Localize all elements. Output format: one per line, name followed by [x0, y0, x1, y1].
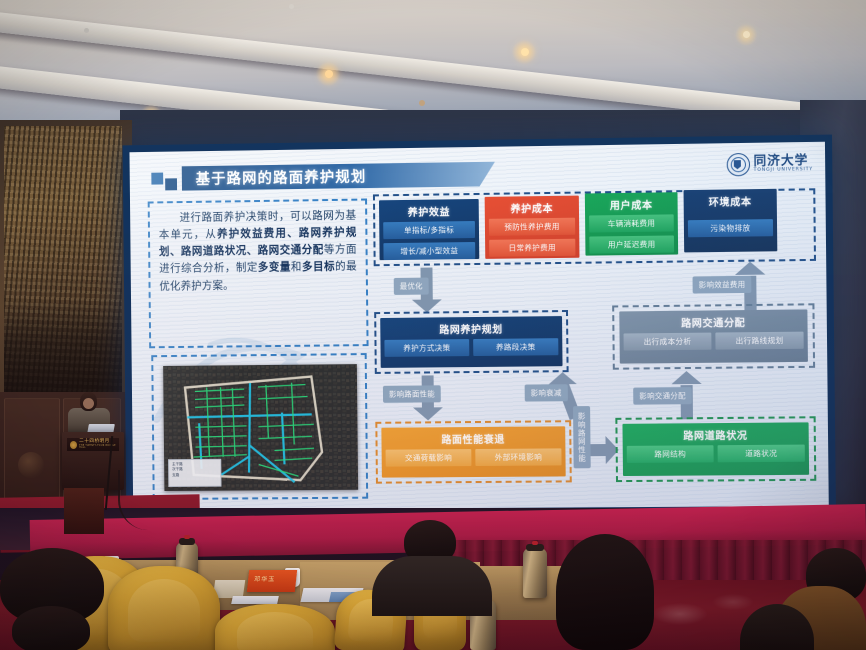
audience-chair: [108, 566, 220, 650]
thermos-cap: [526, 544, 544, 551]
chip-row: 预防性养护费用: [489, 218, 575, 236]
chip: 用户延迟费用: [589, 235, 674, 253]
body-text: 和: [291, 262, 302, 274]
thermos-cap: [179, 538, 195, 545]
ceiling-vent: [289, 4, 294, 9]
card-network-maintenance-plan: 路网养护规划 养护方式决策 养路段决策: [380, 316, 562, 368]
card-user-cost: 用户成本 车辆消耗费用 用户延迟费用: [585, 192, 678, 255]
chip-row: 养护方式决策 养路段决策: [384, 338, 558, 357]
title-square-icon: [165, 178, 177, 190]
emphasis-text: 多目标: [302, 261, 335, 273]
conference-hall-photo: 基于路网的路面养护规划 同济大学 TONGJI UNIVERSITY 进行路面养…: [0, 0, 866, 650]
door-ornament: [18, 452, 44, 478]
audience-person-head: [12, 606, 90, 650]
card-title: 养护效益: [408, 203, 450, 219]
chip: 出行成本分析: [624, 333, 712, 351]
chip: 增长/减小型效益: [383, 242, 475, 260]
podium: 二十四桥明月 THE TWENTY-FOUR BRIDGE HALL: [62, 432, 124, 490]
card-title: 环境成本: [709, 193, 752, 209]
chip: 道路状况: [718, 445, 805, 463]
podium-base: [64, 488, 104, 534]
chip-row: 增长/减小型效益: [383, 242, 475, 260]
logo-text-en: TONGJI UNIVERSITY: [754, 169, 813, 174]
wall-mural-shadow: [4, 300, 122, 400]
tongji-seal-icon: [726, 153, 750, 176]
chip: 车辆消耗费用: [589, 214, 674, 232]
emphasis-text: 多变量: [258, 262, 291, 274]
arrow-label-optimize: 最优化: [394, 278, 429, 295]
chip: 养路段决策: [473, 338, 558, 356]
map-legend: 主干路 次干路 支路: [168, 459, 221, 487]
name-card-text: 邓华玉: [254, 574, 276, 583]
chip: 预防性养护费用: [489, 218, 575, 236]
presentation-slide: 基于路网的路面养护规划 同济大学 TONGJI UNIVERSITY 进行路面养…: [129, 142, 828, 510]
slide-body-text: 进行路面养护决策时，可以路网为基本单元，从养护效益费用、路网养护规划、路网道路状…: [148, 198, 369, 348]
chip-row: 交通荷载影响 外部环境影响: [386, 448, 562, 466]
card-environment-cost: 环境成本 污染物排放: [684, 189, 778, 253]
chip: 路网结构: [627, 445, 714, 463]
chip: 出行路线规划: [715, 332, 803, 350]
card-title: 养护成本: [510, 200, 553, 216]
projection-screen: 基于路网的路面养护规划 同济大学 TONGJI UNIVERSITY 进行路面养…: [123, 135, 836, 517]
chip-row: 单指标/多指标: [383, 221, 475, 239]
chip: 日常养护费用: [489, 239, 575, 257]
chip-row: 路网结构 道路状况: [627, 445, 805, 463]
card-network-traffic-assignment: 路网交通分配 出行成本分析 出行路线规划: [619, 309, 808, 363]
maintenance-planning-diagram: 养护效益 单指标/多指标 增长/减小型效益 养护成本 预防性养护费用 日常养护费…: [373, 188, 819, 501]
card-title: 路网养护规划: [439, 321, 503, 337]
ceiling-spotlight: [325, 70, 333, 78]
card-title: 路面性能衰退: [441, 431, 505, 446]
arrow-label-affects-benefit-cost: 影响效益费用: [693, 276, 752, 294]
ceiling-vent: [419, 100, 425, 106]
legend-item: 支路: [172, 473, 217, 479]
card-pavement-performance-deterioration: 路面性能衰退 交通荷载影响 外部环境影响: [381, 426, 565, 477]
chip: 污染物排放: [688, 219, 773, 237]
arrow-label-affects-network-performance: 影响路网性能: [573, 406, 591, 469]
card-title: 路网交通分配: [681, 314, 745, 330]
thermos-button: [184, 535, 190, 539]
presenter-face: [83, 398, 94, 409]
satellite-map-image: 主干路 次干路 支路: [163, 364, 358, 491]
ceiling-spotlight: [521, 48, 529, 56]
paragraph: 进行路面养护决策时，可以路网为基本单元，从养护效益费用、路网养护规划、路网道路状…: [159, 208, 358, 296]
audience-person-head: [556, 534, 654, 650]
chip: 养护方式决策: [384, 339, 469, 357]
thermos-button: [532, 541, 538, 545]
title-square-icon: [151, 173, 163, 185]
page-title: 基于路网的路面养护规划: [196, 165, 367, 188]
chip: 单指标/多指标: [383, 221, 475, 239]
name-card: 邓华玉: [247, 570, 297, 592]
chip: 交通荷载影响: [386, 449, 472, 467]
card-title: 路网道路状况: [683, 427, 747, 443]
logo-text-cn: 同济大学: [754, 154, 813, 167]
slide-title-block: 基于路网的路面养护规划: [151, 161, 495, 192]
venue-emblem-icon: [70, 441, 77, 449]
title-banner: 基于路网的路面养护规划: [182, 161, 496, 190]
arrow-label-affects-pavement-performance: 影响路面性能: [383, 385, 441, 402]
card-network-road-condition: 路网道路状况 路网结构 道路状况: [622, 422, 809, 476]
road-network-map-panel: 主干路 次干路 支路: [151, 353, 368, 500]
card-title: 用户成本: [610, 197, 653, 213]
chip-row: 污染物排放: [688, 219, 773, 237]
chip-row: 出行成本分析 出行路线规划: [624, 332, 804, 351]
arrow-label-affects-deterioration: 影响衰减: [525, 384, 568, 401]
document-paper: [231, 596, 279, 604]
university-logo: 同济大学 TONGJI UNIVERSITY: [726, 152, 813, 176]
chip: 外部环境影响: [475, 448, 561, 466]
thermos-flask: [523, 548, 547, 598]
audience-person-shoulders: [372, 556, 492, 616]
ceiling-vent: [84, 28, 89, 33]
podium-plaque-text-en: THE TWENTY-FOUR BRIDGE HALL: [79, 445, 119, 449]
chip-row: 用户延迟费用: [589, 235, 674, 253]
chip-row: 日常养护费用: [489, 239, 575, 257]
card-maintenance-cost: 养护成本 预防性养护费用 日常养护费用: [485, 196, 580, 259]
audience-chair: [215, 604, 335, 650]
ceiling-spotlight: [743, 31, 750, 38]
arrow-label-affects-traffic-assignment: 影响交通分配: [633, 387, 692, 405]
card-maintenance-benefit: 养护效益 单指标/多指标 增长/减小型效益: [379, 199, 479, 260]
chip-row: 车辆消耗费用: [589, 214, 674, 232]
